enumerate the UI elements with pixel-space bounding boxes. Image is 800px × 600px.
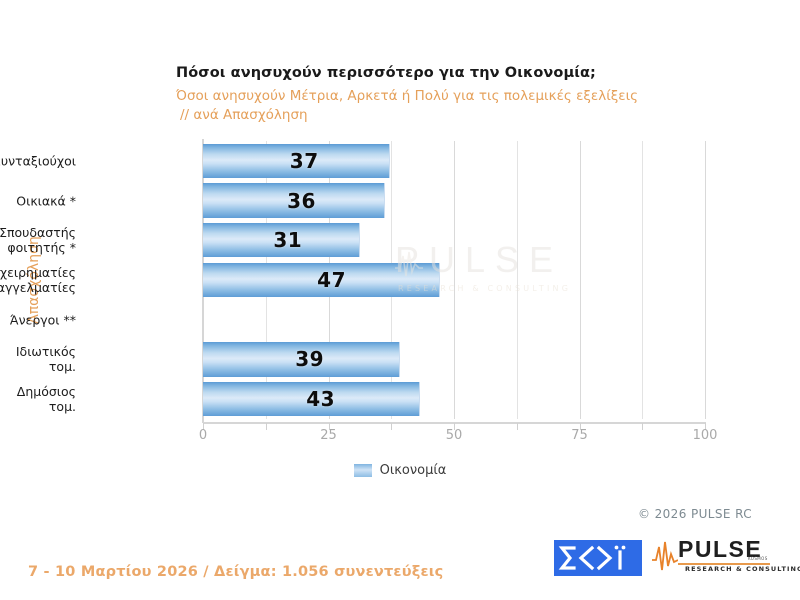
skai-logo-icon [554, 540, 642, 576]
bar-value-label: 47 [317, 268, 346, 292]
bar-row: 31 [203, 223, 705, 257]
y-axis-category-label: Άνεργοι ** [10, 312, 76, 327]
gridline-major [705, 141, 706, 419]
bar-row: 36 [203, 183, 705, 217]
y-axis-category-label: Οικιακά * [16, 193, 76, 208]
y-axis-category-label: Επιχειρηματίες Επαγγελματίες [0, 265, 76, 295]
bar-row: 47 [203, 263, 705, 297]
bar-value-label: 31 [273, 228, 302, 252]
y-axis-category-label: Δημόσιος τομ. [0, 384, 76, 414]
logo-group: PULSE KOSMOS RESEARCH & CONSULTING [554, 538, 770, 578]
x-tick-label: 75 [571, 428, 588, 443]
legend-label-oikonomia: Οικονομία [380, 463, 447, 478]
bar-value-label: 39 [295, 347, 324, 371]
x-tick-label: 0 [199, 428, 207, 443]
pulse-tagline: RESEARCH & CONSULTING [685, 565, 800, 573]
x-tick-mark [517, 423, 518, 430]
chart-legend: Οικονομία [0, 463, 800, 478]
legend-swatch-oikonomia [354, 464, 372, 477]
y-axis-category-label: Συνταξιούχοι [0, 153, 76, 168]
bar-row: 39 [203, 342, 705, 376]
x-tick-label: 50 [446, 428, 463, 443]
copyright-notice: © 2026 PULSE RC [638, 507, 752, 521]
pulse-logo: PULSE KOSMOS RESEARCH & CONSULTING [652, 538, 770, 578]
bar-value-label: 36 [287, 189, 316, 213]
y-axis-category-label: Σπουδαστής φοιτητής * [0, 225, 76, 255]
x-tick-label: 100 [693, 428, 718, 443]
x-tick-mark [266, 423, 267, 430]
x-tick-mark [642, 423, 643, 430]
bar-row: 37 [203, 144, 705, 178]
bar-value-label: 43 [306, 387, 335, 411]
bars-container: 373631473943 [203, 141, 705, 419]
bar-value-label: 37 [290, 149, 319, 173]
fieldwork-date-sample: 7 - 10 Μαρτίου 2026 / Δείγμα: 1.056 συνε… [28, 564, 443, 580]
pulse-waveform-logo-icon [652, 538, 678, 578]
x-tick-label: 25 [320, 428, 337, 443]
skai-logo [554, 540, 642, 576]
x-tick-mark [391, 423, 392, 430]
y-axis-category-label: Ιδιωτικός τομ. [0, 344, 76, 374]
pulse-kosmos-text: KOSMOS [748, 556, 768, 561]
bar-row: 43 [203, 382, 705, 416]
